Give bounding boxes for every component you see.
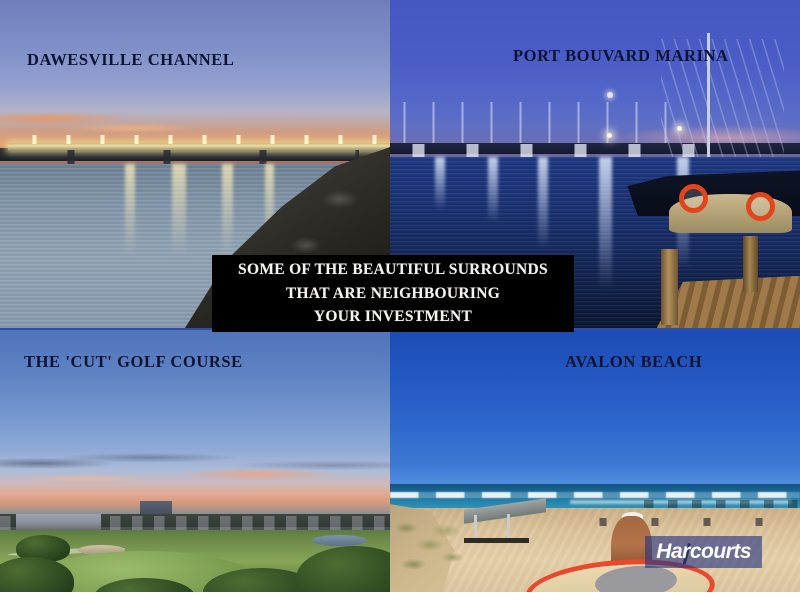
breaking-surf [390,492,800,498]
life-ring [679,184,708,213]
bottom-white-strip [0,592,800,600]
sunset-clouds [0,449,390,498]
surrounds-photo-collage: DAWESVILLE CHANNEL PORT BOUVARD MARINA [0,0,800,600]
beach-shelter-base [464,538,530,543]
light-reflection [599,157,612,288]
caption-port-bouvard-marina: PORT BOUVARD MARINA [513,46,729,66]
beach-shelter-leg [507,514,510,538]
headline-line-2: THAT ARE NEIGHBOURING [286,282,500,306]
jetty-piling [743,236,758,292]
jetty-piling [661,249,678,324]
light-reflection [222,164,233,256]
light-reflection [172,164,186,256]
light-reflection [125,164,135,256]
beach-shelter-leg [474,515,477,539]
cloud-band [0,105,390,138]
headline-line-1: SOME OF THE BEAUTIFUL SURROUNDS [238,258,548,282]
distant-beachgoers [579,518,784,526]
moon [607,92,613,98]
caption-avalon-beach: AVALON BEACH [565,352,702,372]
headline-line-3: YOUR INVESTMENT [314,305,472,329]
water-hazard [312,535,367,546]
light-reflection [538,157,548,249]
harcourts-watermark: Harcourts [645,536,762,568]
yacht-masts [390,102,677,148]
caption-the-cut-golf-course: THE 'CUT' GOLF COURSE [24,352,243,372]
headline-overlay: SOME OF THE BEAUTIFUL SURROUNDS THAT ARE… [212,255,574,332]
dune-grass [390,514,480,584]
light-reflection [488,157,498,223]
caption-dawesville-channel: DAWESVILLE CHANNEL [27,50,234,70]
light-reflection [435,157,445,209]
bridge-lights [16,135,383,144]
